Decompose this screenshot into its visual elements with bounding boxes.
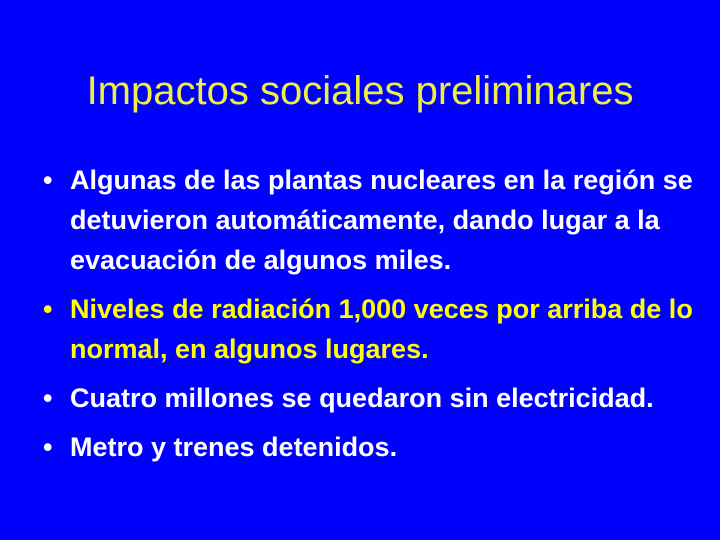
list-item-label: Metro y trenes detenidos. bbox=[70, 427, 704, 467]
bullet-dot-icon: • bbox=[43, 378, 63, 418]
list-item: • Metro y trenes detenidos. bbox=[32, 427, 704, 467]
list-item-label: Cuatro millones se quedaron sin electric… bbox=[70, 378, 704, 418]
list-item-label: Algunas de las plantas nucleares en la r… bbox=[70, 160, 704, 280]
list-item-label: Niveles de radiación 1,000 veces por arr… bbox=[70, 289, 704, 369]
bullet-dot-icon: • bbox=[43, 160, 63, 200]
presentation-slide: Impactos sociales preliminares • Algunas… bbox=[0, 0, 720, 540]
list-item: • Cuatro millones se quedaron sin electr… bbox=[32, 378, 704, 418]
bullet-list: • Algunas de las plantas nucleares en la… bbox=[32, 160, 704, 467]
page-title: Impactos sociales preliminares bbox=[0, 68, 720, 114]
list-item: • Algunas de las plantas nucleares en la… bbox=[32, 160, 704, 280]
bullet-dot-icon: • bbox=[43, 289, 63, 329]
bullet-dot-icon: • bbox=[43, 427, 63, 467]
list-item: • Niveles de radiación 1,000 veces por a… bbox=[32, 289, 704, 369]
